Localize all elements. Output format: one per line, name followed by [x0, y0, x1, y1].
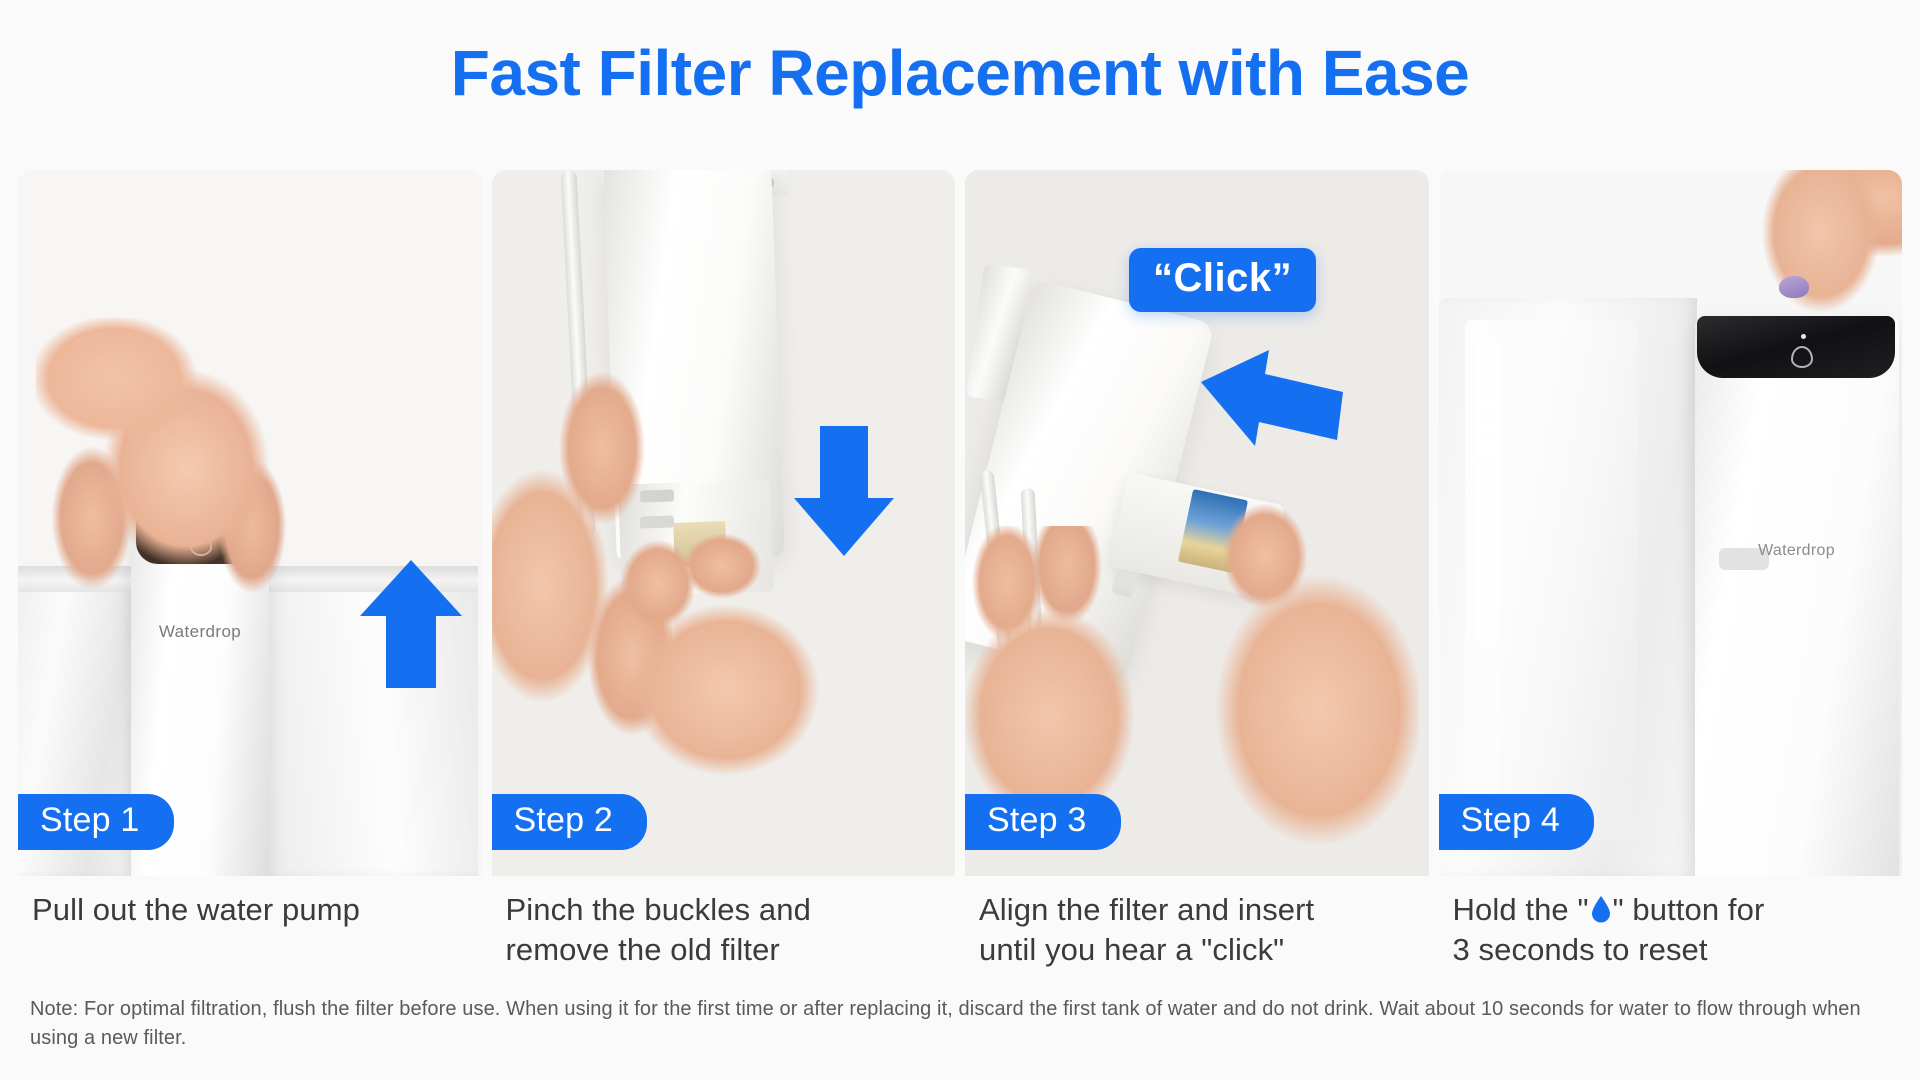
caption-step-3-line1: Align the filter and insert [979, 892, 1314, 927]
step-panel-1: Waterdrop Step 1 [18, 170, 482, 876]
buckle-upper-image [639, 489, 673, 502]
new-filter-cartridge-image [1109, 472, 1285, 599]
caption-step-2-line1: Pinch the buckles and [506, 892, 811, 927]
right-hand-pinching-image [596, 530, 846, 800]
caption-step-2: Pinch the buckles and remove the old fil… [492, 890, 956, 969]
water-tank-image [1439, 298, 1697, 876]
pitcher-right-wall-image [248, 568, 478, 876]
silicone-tube-image [560, 170, 595, 538]
step-badge-1: Step 1 [18, 794, 174, 850]
caption-step-1: Pull out the water pump [18, 890, 482, 969]
silicone-tube-lower-image [540, 500, 572, 651]
hand-image [36, 318, 294, 618]
captions-row: Pull out the water pump Pinch the buckle… [18, 890, 1902, 969]
alignment-notch-image [1132, 475, 1160, 494]
caption-step-4-suffix: " button for [1613, 892, 1765, 927]
water-drop-button-icon [190, 534, 212, 556]
arrow-up-icon [356, 558, 466, 690]
filter-housing-image [965, 279, 1215, 681]
finger-pressing-image [1711, 170, 1903, 364]
step-badge-2: Step 2 [492, 794, 648, 850]
caption-step-1-line1: Pull out the water pump [32, 892, 360, 927]
caption-step-4-prefix: Hold the " [1453, 892, 1589, 927]
pump-unit-image [1695, 316, 1899, 876]
mounting-bracket-image [966, 263, 1030, 402]
water-drop-icon [1590, 895, 1612, 923]
pump-led-indicator-icon [1801, 334, 1806, 339]
note-line-1: Note: For optimal filtration, flush the … [30, 998, 1475, 1020]
silicone-tube-second-image [1021, 488, 1044, 658]
step-panel-4: Waterdrop Step 4 [1439, 170, 1903, 876]
screw-hole-image [760, 176, 774, 190]
buckle-lower-image [639, 515, 673, 528]
caption-step-2-line2: remove the old filter [506, 932, 780, 967]
waterdrop-logo-text: Waterdrop [1695, 542, 1899, 560]
click-callout-badge: “Click” [1129, 248, 1316, 312]
tank-highlight-image [1475, 336, 1501, 824]
step-badge-4: Step 4 [1439, 794, 1595, 850]
left-hand-image [492, 356, 672, 776]
caption-step-4-line2: 3 seconds to reset [1453, 932, 1708, 967]
filter-housing-image [603, 170, 785, 563]
unit-underside-image [601, 170, 788, 201]
infographic-page: Fast Filter Replacement with Ease Waterd… [0, 0, 1920, 1080]
tank-interior-image [1465, 320, 1637, 840]
fingernail-image [1779, 276, 1809, 298]
new-filter-label-image [1178, 489, 1248, 573]
filter-label-image [673, 521, 727, 567]
note-block: Note: For optimal filtration, flush the … [30, 995, 1880, 1053]
waterdrop-logo-text: Waterdrop [131, 622, 269, 642]
step-badge-3: Step 3 [965, 794, 1121, 850]
arrow-left-icon [1197, 336, 1347, 454]
pitcher-rim-image [18, 566, 478, 592]
caption-step-3: Align the filter and insert until you he… [965, 890, 1429, 969]
silicone-tube-image [980, 470, 1013, 652]
tube-tip-image [1111, 560, 1142, 599]
pump-top-cap-image [136, 508, 264, 564]
old-filter-cartridge-image [618, 479, 774, 596]
release-tab-image [1719, 548, 1769, 570]
steps-panel-row: Waterdrop Step 1 Step 2 [18, 170, 1902, 876]
pump-led-indicator-icon [200, 522, 205, 527]
water-drop-button-icon[interactable] [1791, 346, 1813, 368]
pump-top-panel-image [1697, 316, 1895, 378]
page-title: Fast Filter Replacement with Ease [0, 36, 1920, 110]
caption-step-3-line2: until you hear a "click" [979, 932, 1284, 967]
tube-tip-image [537, 631, 565, 675]
step-panel-3: “Click” Step 3 [965, 170, 1429, 876]
step-panel-2: Step 2 [492, 170, 956, 876]
right-hand-image [1179, 490, 1419, 876]
caption-step-4: Hold the "" button for 3 seconds to rese… [1439, 890, 1903, 969]
arrow-down-icon [792, 422, 896, 558]
